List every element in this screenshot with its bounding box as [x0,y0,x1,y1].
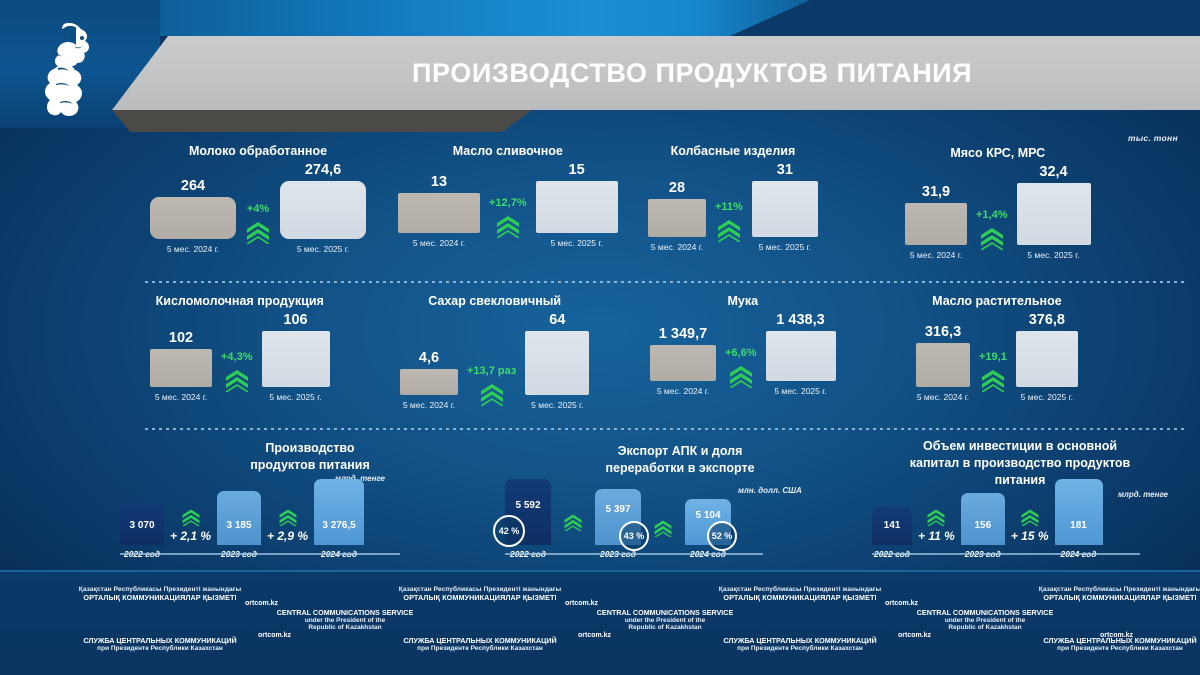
bar-group-old: 264 5 мес. 2024 г. [150,178,236,254]
trend-bar: 181 [1055,479,1103,545]
footer-url[interactable]: ortcom.kz [245,600,278,607]
bar-new [525,331,589,395]
card-body: 31,9 5 мес. 2024 г. +1,4% 32,4 5 мес. 20… [905,164,1091,260]
trend-bar-group: 141 2022 год [872,507,912,559]
chevron-up-icon [653,519,673,537]
bar-caption-new: 5 мес. 2025 г. [1027,250,1079,260]
bar-value-new: 1 438,3 [776,312,824,328]
card-body: 4,6 5 мес. 2024 г. +13,7 раз 64 5 мес. 2… [400,312,589,410]
footer-kz-line1: Қазақстан Республикасы Президенті жанынд… [330,586,630,593]
footer-en-line2: under the President of the [180,617,510,624]
bar-group-old: 13 5 мес. 2024 г. [398,174,480,248]
footer-org-en: CENTRAL COMMUNICATIONS SERVICE under the… [820,608,1150,631]
trend-bar: 3 276,5 [314,479,364,545]
footer-en-line1: CENTRAL COMMUNICATIONS SERVICE [500,608,830,617]
bar-group-old: 316,3 5 мес. 2024 г. [916,324,970,402]
trend-bar-value: 5 397 [605,504,630,515]
bar-value-old: 4,6 [419,350,439,366]
footer-rule [0,570,1200,572]
unit-label-thousand-tons: тыс. тонн [1128,133,1178,143]
trend-bar-value: 141 [884,520,901,531]
bar-old [905,203,967,245]
trend-baseline [872,553,1140,555]
compare-card-sugar: Сахар свекловичный 4,6 5 мес. 2024 г. +1… [400,294,589,410]
bar-old [150,197,236,239]
trend-bar-value: 5 592 [515,500,540,511]
bar-old [398,193,480,233]
footer-kz-line1: Қазақстан Республикасы Президенті жанынд… [970,586,1200,593]
bar-group-old: 28 5 мес. 2024 г. [648,180,706,252]
trend-bar-group: 5 397 2023 год 43 % [595,489,641,559]
trend-bar-value: 181 [1070,520,1087,531]
bar-old [150,349,212,387]
bar-new [1016,331,1078,387]
change-indicator: +19,1 [970,351,1016,402]
change-percent: +6,6% [725,347,757,359]
footer-en-line2: under the President of the [500,617,830,624]
trend-delta-group: + 11 % [912,508,961,559]
bar-group-new: 376,8 5 мес. 2025 г. [1016,312,1078,402]
card-body: 264 5 мес. 2024 г. +4% 274,6 5 мес. 2025… [150,162,366,254]
card-title: Кисломолочная продукция [156,294,324,308]
footer-en-line1: CENTRAL COMMUNICATIONS SERVICE [180,608,510,617]
footer-ru-line1: СЛУЖБА ЦЕНТРАЛЬНЫХ КОММУНИКАЦИЙ [330,636,630,645]
trend-bar: 156 [961,493,1005,545]
bar-value-new: 274,6 [305,162,341,178]
compare-card-flour: Мука 1 349,7 5 мес. 2024 г. +6,6% 1 438,… [650,294,836,396]
bar-caption-new: 5 мес. 2025 г. [269,392,321,402]
chevron-up-icon [181,508,201,526]
bar-value-old: 1 349,7 [659,326,707,342]
card-title: Колбасные изделия [671,144,796,158]
trend-delta-group: + 2,9 % [261,508,314,559]
bar-group-new: 31 5 мес. 2025 г. [752,162,818,252]
chevron-up-icon [495,214,521,238]
chevron-up-icon [980,368,1006,392]
bar-caption-new: 5 мес. 2025 г. [774,386,826,396]
bar-caption-new: 5 мес. 2025 г. [531,400,583,410]
section-divider-2 [145,428,1185,430]
footer-org-en: CENTRAL COMMUNICATIONS SERVICE under the… [500,608,830,631]
trend-bars-food-production: 3 070 2022 год + 2,1 % 3 185 2023 год [120,487,364,559]
footer-ru-line2: при Президенте Республики Казахстан [650,645,950,652]
trend-bar: 141 [872,507,912,545]
share-badge: 52 % [707,521,737,551]
trend-bar-group: 3 276,5 2024 год [314,479,364,559]
chevron-up-icon [1020,508,1040,526]
trend-bar-group: 5 592 2022 год 42 % [505,479,551,559]
bar-new [262,331,330,387]
footer-en-line1: CENTRAL COMMUNICATIONS SERVICE [820,608,1150,617]
compare-card-milk: Молоко обработанное 264 5 мес. 2024 г. +… [150,144,366,254]
bar-value-new: 64 [549,312,565,328]
infographic-slide: ПРОИЗВОДСТВО ПРОДУКТОВ ПИТАНИЯ тыс. тонн… [0,0,1200,675]
change-indicator: +12,7% [480,197,536,248]
bar-old [400,369,458,395]
chevron-up-icon [278,508,298,526]
footer-ru-line2: при Президенте Республики Казахстан [970,645,1200,652]
bar-caption-old: 5 мес. 2024 г. [403,400,455,410]
footer-en-line3: Republic of Kazakhstan [820,624,1150,631]
card-title: Масло растительное [932,294,1062,308]
compare-card-dairy: Кисломолочная продукция 102 5 мес. 2024 … [150,294,330,402]
bar-value-old: 31,9 [922,184,950,200]
footer-org-kz: Қазақстан Республикасы Президенті жанынд… [970,586,1200,602]
footer-org-en: CENTRAL COMMUNICATIONS SERVICE under the… [180,608,510,631]
trend-bars-investment: 141 2022 год + 11 % 156 2023 год + [872,487,1103,559]
trend-bar-value: 5 104 [695,510,720,521]
bar-caption-old: 5 мес. 2024 г. [657,386,709,396]
chevron-up-icon [563,513,583,531]
footer-kz-line1: Қазақстан Республикасы Президенті жанынд… [650,586,950,593]
compare-card-sausage: Колбасные изделия 28 5 мес. 2024 г. +11%… [648,144,818,252]
trend-delta: + 15 % [1011,529,1049,543]
chevron-up-icon [728,364,754,388]
trend-bar-value: 3 070 [129,520,154,531]
trend-block-investment: Объем инвестиции в основной капитал в пр… [860,438,1180,489]
bar-value-new: 106 [283,312,307,328]
trend-unit-label: млрд. тенге [1118,490,1168,499]
bar-value-old: 264 [181,178,205,194]
change-indicator: +1,4% [967,209,1017,260]
trend-delta-group: + 15 % [1005,508,1055,559]
footer-ru-line1: СЛУЖБА ЦЕНТРАЛЬНЫХ КОММУНИКАЦИЙ [10,636,310,645]
footer-en-line3: Republic of Kazakhstan [180,624,510,631]
footer-ru-line1: СЛУЖБА ЦЕНТРАЛЬНЫХ КОММУНИКАЦИЙ [970,636,1200,645]
compare-card-vegetable-oil: Масло растительное 316,3 5 мес. 2024 г. … [916,294,1078,402]
trend-bar-group: 5 104 2024 год 52 % [685,499,731,559]
bar-new [280,181,366,239]
change-indicator: +4,3% [212,351,262,402]
change-indicator: +13,7 раз [458,365,525,410]
trend-title: Производство продуктов питания [160,440,460,474]
card-title: Масло сливочное [453,144,563,158]
bar-group-old: 1 349,7 5 мес. 2024 г. [650,326,716,396]
trend-bar: 3 070 [120,503,164,545]
chevron-up-icon [245,220,271,244]
trend-delta: + 11 % [918,529,955,543]
card-title: Сахар свекловичный [428,294,561,308]
footer-ru-line1: СЛУЖБА ЦЕНТРАЛЬНЫХ КОММУНИКАЦИЙ [650,636,950,645]
footer-url[interactable]: ortcom.kz [885,600,918,607]
footer-url[interactable]: ortcom.kz [565,600,598,607]
header: ПРОИЗВОДСТВО ПРОДУКТОВ ПИТАНИЯ [0,0,1200,128]
trend-baseline [505,553,763,555]
bar-value-old: 102 [169,330,193,346]
bar-old [916,343,970,387]
trend-bar-group: 181 2024 год [1055,479,1103,559]
bar-new [536,181,618,233]
bar-caption-old: 5 мес. 2024 г. [413,238,465,248]
trend-bar-group: 3 070 2022 год [120,503,164,559]
change-indicator: +4% [236,203,280,254]
compare-card-butter: Масло сливочное 13 5 мес. 2024 г. +12,7%… [398,144,618,248]
card-body: 13 5 мес. 2024 г. +12,7% 15 5 мес. 2025 … [398,162,618,248]
trend-block-agro-export: Экспорт АПК и доля переработки в экспорт… [540,443,820,477]
card-title: Мука [727,294,758,308]
compare-card-meat: Мясо КРС, МРС 31,9 5 мес. 2024 г. +1,4% … [905,146,1091,260]
bar-caption-new: 5 мес. 2025 г. [297,244,349,254]
trend-unit-label: млн. долл. США [738,486,802,495]
bar-group-old: 31,9 5 мес. 2024 г. [905,184,967,260]
snow-leopard-emblem [28,22,108,126]
footer-en-line2: under the President of the [820,617,1150,624]
share-badge: 43 % [619,521,649,551]
card-title: Мясо КРС, МРС [950,146,1045,160]
header-dark-accent [112,110,532,132]
trend-delta-group: + 2,1 % [164,508,217,559]
bar-caption-old: 5 мес. 2024 г. [910,250,962,260]
change-indicator: +11% [706,201,752,252]
bar-group-new: 274,6 5 мес. 2025 г. [280,162,366,254]
bar-caption-old: 5 мес. 2024 г. [155,392,207,402]
bar-group-new: 32,4 5 мес. 2025 г. [1017,164,1091,260]
chevron-up-icon [926,508,946,526]
chevron-up-icon [716,218,742,242]
bar-group-new: 15 5 мес. 2025 г. [536,162,618,248]
card-body: 28 5 мес. 2024 г. +11% 31 5 мес. 2025 г. [648,162,818,252]
bar-value-new: 376,8 [1029,312,1065,328]
change-percent: +12,7% [489,197,527,209]
bar-value-old: 13 [431,174,447,190]
section-divider-1 [145,281,1185,283]
trend-bar-group: 3 185 2023 год [217,491,261,559]
bar-value-new: 32,4 [1039,164,1067,180]
bar-new [752,181,818,237]
trend-title: Экспорт АПК и доля переработки в экспорт… [540,443,820,477]
trend-block-food-production: Производство продуктов питания [160,440,460,474]
change-percent: +4% [247,203,269,215]
change-indicator: +6,6% [716,347,766,396]
chevron-up-icon [479,382,505,406]
trend-bar-value: 156 [974,520,991,531]
footer-kz-line1: Қазақстан Республикасы Президенті жанынд… [10,586,310,593]
bar-new [766,331,836,381]
change-percent: +4,3% [221,351,253,363]
change-percent: +13,7 раз [467,365,516,377]
change-percent: +19,1 [979,351,1007,363]
bar-caption-new: 5 мес. 2025 г. [550,238,602,248]
footer-org-ru: СЛУЖБА ЦЕНТРАЛЬНЫХ КОММУНИКАЦИЙ при През… [10,636,310,652]
bar-old [648,199,706,237]
bar-group-old: 102 5 мес. 2024 г. [150,330,212,402]
bar-group-new: 64 5 мес. 2025 г. [525,312,589,410]
bar-value-old: 28 [669,180,685,196]
footer-ru-line2: при Президенте Республики Казахстан [330,645,630,652]
bar-group-new: 1 438,3 5 мес. 2025 г. [766,312,836,396]
footer-org-ru: СЛУЖБА ЦЕНТРАЛЬНЫХ КОММУНИКАЦИЙ при През… [330,636,630,652]
bar-group-new: 106 5 мес. 2025 г. [262,312,330,402]
trend-bar: 3 185 [217,491,261,545]
trend-bar-value: 3 276,5 [322,520,355,531]
trend-bar-group: 156 2023 год [961,493,1005,559]
trend-bars-agro-export: 5 592 2022 год 42 % 5 397 2023 год 43 % [505,487,731,559]
trend-title: Объем инвестиции в основной капитал в пр… [860,438,1180,489]
trend-delta: + 2,1 % [170,529,211,543]
footer-ru-line2: при Президенте Республики Казахстан [10,645,310,652]
trend-delta: + 2,9 % [267,529,308,543]
bar-caption-new: 5 мес. 2025 г. [1021,392,1073,402]
card-body: 1 349,7 5 мес. 2024 г. +6,6% 1 438,3 5 м… [650,312,836,396]
bar-caption-old: 5 мес. 2024 г. [167,244,219,254]
change-percent: +11% [715,201,743,213]
bar-value-new: 15 [569,162,585,178]
card-body: 102 5 мес. 2024 г. +4,3% 106 5 мес. 2025… [150,312,330,402]
header-title-plate: ПРОИЗВОДСТВО ПРОДУКТОВ ПИТАНИЯ [112,36,1200,110]
footer-kz-line2: ОРТАЛЫҚ КОММУНИКАЦИЯЛАР ҚЫЗМЕТІ [970,593,1200,602]
trend-bar-value: 3 185 [227,520,252,531]
card-title: Молоко обработанное [189,144,327,158]
bar-caption-old: 5 мес. 2024 г. [651,242,703,252]
bar-value-new: 31 [777,162,793,178]
bar-caption-new: 5 мес. 2025 г. [759,242,811,252]
bar-caption-old: 5 мес. 2024 г. [917,392,969,402]
bar-group-old: 4,6 5 мес. 2024 г. [400,350,458,410]
bar-value-old: 316,3 [925,324,961,340]
bar-old [650,345,716,381]
footer-org-ru: СЛУЖБА ЦЕНТРАЛЬНЫХ КОММУНИКАЦИЙ при През… [650,636,950,652]
footer-en-line3: Republic of Kazakhstan [500,624,830,631]
chevron-up-icon [224,368,250,392]
change-percent: +1,4% [976,209,1008,221]
chevron-up-icon [979,226,1005,250]
bar-new [1017,183,1091,245]
page-title: ПРОИЗВОДСТВО ПРОДУКТОВ ПИТАНИЯ [412,58,972,89]
share-badge: 42 % [493,515,525,547]
footer-org-ru: СЛУЖБА ЦЕНТРАЛЬНЫХ КОММУНИКАЦИЙ при През… [970,636,1200,652]
footer: Қазақстан Республикасы Президенті жанынд… [0,570,1200,675]
card-body: 316,3 5 мес. 2024 г. +19,1 376,8 5 мес. … [916,312,1078,402]
trend-baseline [120,553,400,555]
